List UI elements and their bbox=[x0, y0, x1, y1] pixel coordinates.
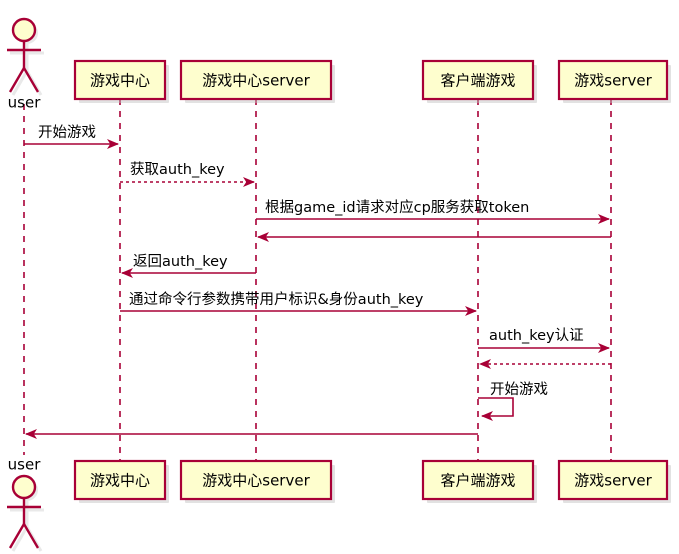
message-2-get-auth-key[interactable]: 获取auth_key bbox=[120, 161, 254, 182]
actor-label-user-top: user bbox=[8, 94, 42, 112]
participant-box-client-game-bottom[interactable]: 客户端游戏 bbox=[423, 461, 537, 503]
participant-box-gamecenter-top[interactable]: 游戏中心 bbox=[75, 61, 169, 103]
message-label-9: 开始游戏 bbox=[490, 381, 548, 398]
actor-leg-right-bottom bbox=[24, 524, 38, 548]
message-6-launch-with-args[interactable]: 通过命令行参数携带用户标识&身份auth_key bbox=[120, 290, 476, 311]
message-label-6: 通过命令行参数携带用户标识&身份auth_key bbox=[129, 290, 424, 308]
message-1-start-game[interactable]: 开始游戏 bbox=[24, 124, 118, 144]
actor-label-user-bottom: user bbox=[8, 456, 42, 474]
participant-box-game-server-bottom[interactable]: 游戏server bbox=[559, 461, 671, 503]
message-9-self-start-game[interactable]: 开始游戏 bbox=[478, 381, 548, 416]
message-3-request-token[interactable]: 根据game_id请求对应cp服务获取token bbox=[256, 198, 609, 219]
message-7-auth-key-verify[interactable]: auth_key认证 bbox=[478, 327, 609, 348]
message-5-return-auth-key[interactable]: 返回auth_key bbox=[122, 253, 256, 273]
message-label-2: 获取auth_key bbox=[130, 161, 225, 178]
participant-box-gamecenter-server-bottom[interactable]: 游戏中心server bbox=[181, 461, 335, 503]
participant-label-client-game-bottom: 客户端游戏 bbox=[440, 472, 515, 490]
actor-leg-right bbox=[24, 68, 38, 92]
message-label-5: 返回auth_key bbox=[133, 253, 228, 270]
participant-box-gamecenter-bottom[interactable]: 游戏中心 bbox=[75, 461, 169, 503]
actor-head-icon-bottom bbox=[13, 476, 35, 498]
participant-label-gamecenter-bottom: 游戏中心 bbox=[90, 472, 150, 490]
lifelines-group bbox=[24, 99, 611, 461]
actor-user-top[interactable]: user bbox=[7, 19, 44, 112]
participant-label-gamecenter-server-bottom: 游戏中心server bbox=[202, 472, 310, 490]
message-label-7: auth_key认证 bbox=[489, 327, 584, 344]
participant-box-gamecenter-server-top[interactable]: 游戏中心server bbox=[181, 61, 335, 103]
message-label-1: 开始游戏 bbox=[38, 124, 96, 141]
sequence-diagram-svg: user 游戏中心 游戏中心server 客户端游戏 游戏server 开始游戏 bbox=[0, 0, 679, 554]
participant-box-client-game-top[interactable]: 客户端游戏 bbox=[423, 61, 537, 103]
actor-user-bottom[interactable]: user bbox=[7, 456, 44, 552]
message-label-3: 根据game_id请求对应cp服务获取token bbox=[265, 198, 529, 216]
participant-label-gamecenter-server-top: 游戏中心server bbox=[202, 72, 310, 90]
participant-label-gamecenter-top: 游戏中心 bbox=[90, 72, 150, 90]
message-self-loop-path-9 bbox=[478, 398, 513, 416]
participant-label-game-server-bottom: 游戏server bbox=[574, 472, 652, 490]
participant-label-game-server-top: 游戏server bbox=[574, 72, 652, 90]
participant-label-client-game-top: 客户端游戏 bbox=[440, 72, 515, 90]
participant-box-game-server-top[interactable]: 游戏server bbox=[559, 61, 671, 103]
sequence-diagram-canvas: user 游戏中心 游戏中心server 客户端游戏 游戏server 开始游戏 bbox=[0, 0, 679, 554]
actor-head-icon bbox=[13, 19, 35, 41]
